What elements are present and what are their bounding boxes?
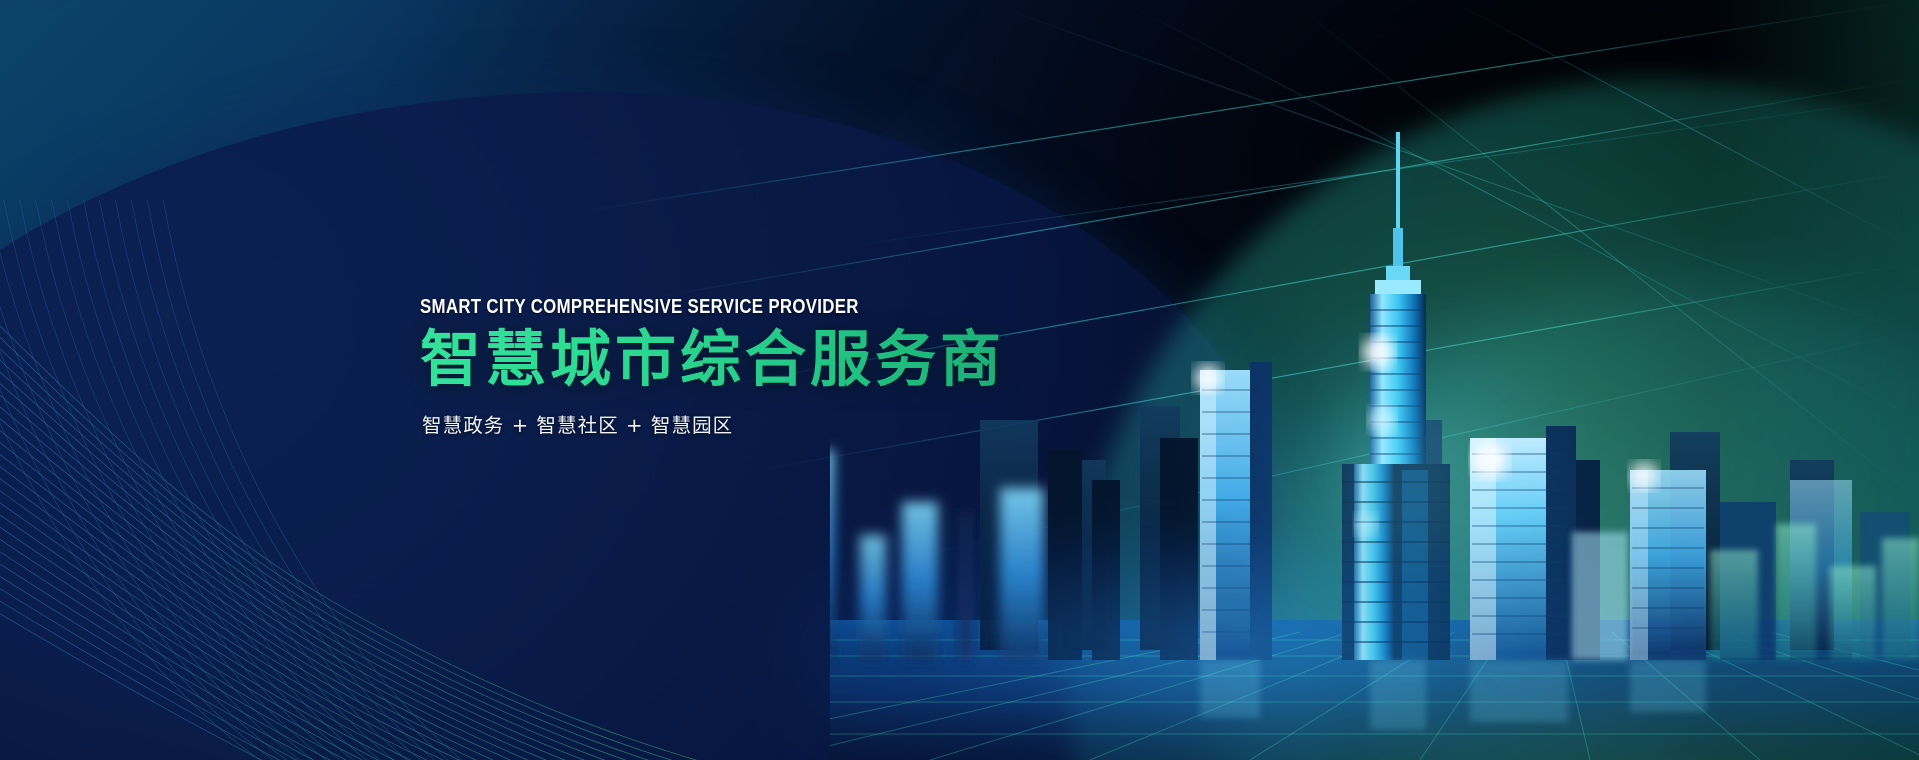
city-bloom	[1230, 280, 1590, 700]
tagline: SMART CITY COMPREHENSIVE SERVICE PROVIDE…	[420, 296, 900, 319]
hero-text-block: SMART CITY COMPREHENSIVE SERVICE PROVIDE…	[420, 296, 1005, 438]
subtitle: 智慧政务 + 智慧社区 + 智慧园区	[422, 409, 1005, 438]
hero-banner: SMART CITY COMPREHENSIVE SERVICE PROVIDE…	[0, 0, 1919, 760]
page-title: 智慧城市综合服务商	[420, 325, 1005, 396]
